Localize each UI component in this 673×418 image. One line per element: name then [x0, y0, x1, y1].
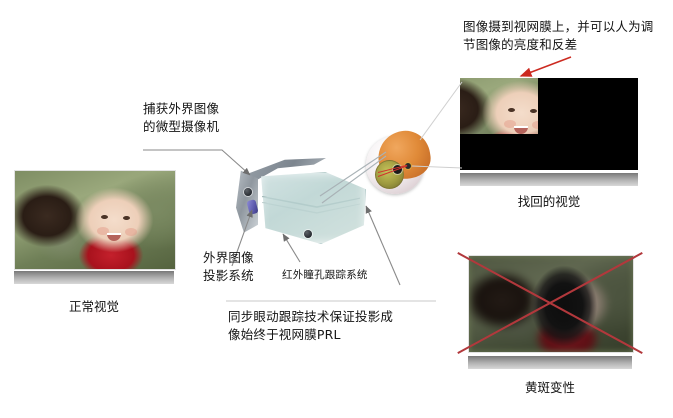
- eye-tracking-sensor-icon: [304, 230, 312, 238]
- restored-vision-photo: [460, 78, 638, 170]
- glasses-lens: [259, 172, 366, 244]
- annotation-projection-label: 外界图像 投影系统: [203, 249, 283, 285]
- normal-vision-photo: [14, 170, 176, 270]
- camera-lens-icon: [244, 188, 252, 196]
- father-baby-image-bright: [460, 78, 538, 134]
- x-mark-icon: [468, 255, 632, 351]
- caption-normal-vision: 正常视觉: [14, 296, 174, 315]
- macular-degeneration-shelf: [468, 356, 632, 369]
- annotation-camera-label: 捕获外界图像 的微型摄像机: [143, 100, 263, 136]
- restored-vision-window: [460, 78, 538, 134]
- annotation-sync-label: 同步眼动跟踪技术保证投影成 像始终于视网膜PRL: [228, 308, 443, 344]
- annotation-top-right-note: 图像摄到视网膜上，并可以人为调 节图像的亮度和反差: [463, 18, 663, 54]
- normal-vision-shelf: [14, 271, 174, 284]
- caption-restored-vision: 找回的视觉: [460, 191, 638, 210]
- diagram-canvas: 正常视觉 找回的视觉 黄斑变性: [0, 0, 673, 418]
- restored-vision-shelf: [460, 173, 638, 186]
- eyeball-icon: [364, 128, 436, 200]
- father-baby-image: [15, 171, 175, 269]
- annotation-eyetracking-label: 红外瞳孔跟踪系统: [282, 268, 402, 283]
- caption-macular-degeneration: 黄斑变性: [468, 377, 632, 396]
